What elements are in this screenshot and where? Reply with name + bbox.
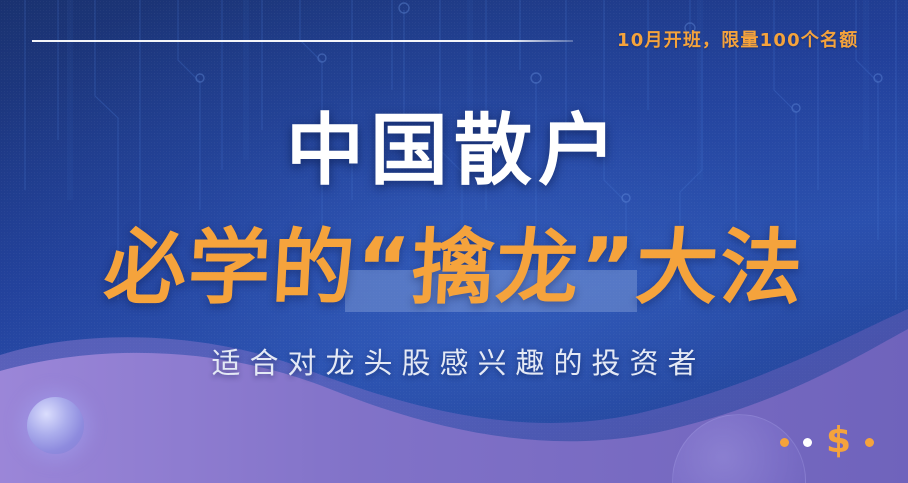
- orange-dot: [865, 438, 874, 447]
- eyebrow-text: 10月开班，限量100个名额: [617, 26, 858, 52]
- decorative-dot-group: $: [780, 425, 874, 459]
- glowing-sphere: [27, 397, 84, 454]
- dollar-icon: $: [826, 423, 851, 459]
- orange-dot: [780, 438, 789, 447]
- promo-poster: 10月开班，限量100个名额 中国散户 必学的“擒龙”大法 适合对龙头股感兴趣的…: [0, 0, 908, 483]
- header-divider-rule: [32, 40, 573, 42]
- page-title: 中国散户: [0, 112, 908, 190]
- subtitle-text: 适合对龙头股感兴趣的投资者: [0, 346, 908, 381]
- headline-secondary: 必学的“擒龙”大法: [0, 226, 908, 313]
- headline-secondary-wrap: 必学的“擒龙”大法: [0, 226, 908, 322]
- white-dot: [803, 438, 812, 447]
